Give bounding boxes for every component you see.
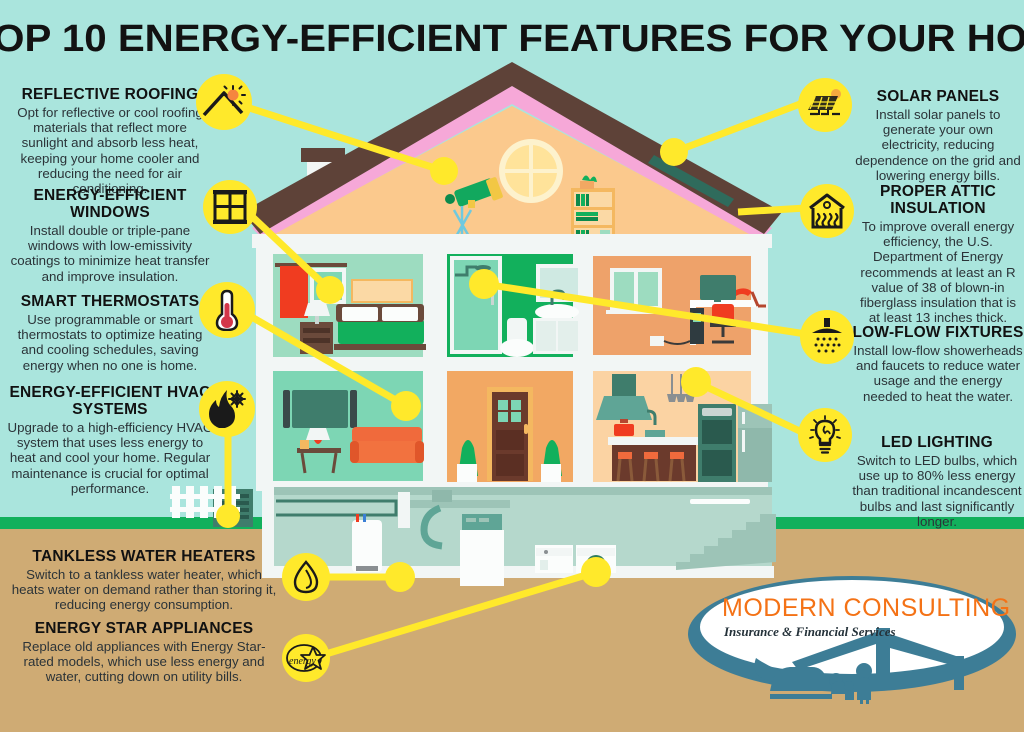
thermometer-icon[interactable]: [199, 282, 255, 338]
energy-star-icon[interactable]: energy: [282, 634, 330, 682]
table-lamp-shade: [306, 428, 330, 440]
round-window-mullion-h: [505, 169, 557, 173]
water-drop-icon[interactable]: [282, 553, 330, 601]
pipe-vertical: [398, 492, 410, 528]
plant-right-pot: [541, 464, 561, 482]
kitchen-sink: [645, 430, 665, 437]
stool-seat-3: [670, 452, 684, 459]
toilet-bowl: [500, 339, 534, 357]
pillow-right: [382, 307, 418, 321]
tv-speaker-left: [283, 390, 290, 428]
plant-left-pot: [457, 464, 477, 482]
attic-floor: [252, 234, 772, 248]
tv-screen: [292, 390, 348, 428]
office-chair-back: [712, 304, 734, 322]
bedroom-window-glass: [314, 272, 342, 300]
range-hood-top: [612, 374, 636, 396]
sofa-arm-left: [350, 441, 359, 463]
flame-snowflake-icon[interactable]: [199, 381, 255, 437]
range-hood: [596, 396, 652, 420]
logo-name-text: MODERN CONSULTING: [722, 594, 1011, 622]
showerhead: [475, 265, 491, 271]
furnace: [460, 530, 504, 586]
mug: [300, 440, 309, 449]
office-chair-seat: [710, 322, 736, 327]
washer-door: [586, 555, 606, 575]
solar-panel-icon[interactable]: [798, 78, 852, 132]
basement-left-wall: [262, 483, 274, 578]
basement-ceiling: [274, 487, 772, 495]
sink-basin: [535, 304, 579, 320]
logo-tagline-text: Insurance & Financial Services: [723, 624, 896, 639]
sofa-back: [352, 427, 422, 443]
bed-blanket: [338, 319, 424, 344]
water-heater: [352, 520, 382, 572]
wall-outlet: [650, 336, 664, 346]
basement-light: [690, 499, 750, 504]
bedroom-lamp-shade: [304, 303, 330, 316]
picket-fence: [170, 486, 240, 518]
mirror-glass: [540, 268, 578, 298]
infographic-canvas: TOP 10 ENERGY-EFFICIENT FEATURES FOR YOU…: [0, 0, 1024, 732]
monitor-stand: [714, 296, 721, 302]
door-handle: [524, 424, 528, 434]
pillow-left: [342, 307, 378, 321]
curtain: [280, 266, 308, 318]
shower-icon[interactable]: [800, 310, 854, 364]
stool-seat-1: [618, 452, 632, 459]
counter-top: [608, 437, 700, 445]
window-sill: [606, 310, 666, 314]
stool-seat-2: [644, 452, 658, 459]
window-icon[interactable]: [203, 180, 257, 234]
roof-sun-icon[interactable]: [196, 74, 252, 130]
svg-text:energy: energy: [289, 656, 316, 667]
tv-speaker-right: [350, 390, 357, 428]
shower-handle: [491, 293, 494, 305]
sofa-seat: [350, 441, 424, 463]
house-heat-icon[interactable]: [800, 184, 854, 238]
bed-base: [334, 344, 426, 350]
lightbulb-icon[interactable]: [798, 408, 852, 462]
company-logo[interactable]: MODERN CONSULTING Insurance & Financial …: [686, 572, 1018, 722]
wall-art: [352, 280, 412, 302]
sofa-arm-right: [415, 441, 424, 463]
cooking-pot: [614, 424, 634, 436]
duct-horizontal: [410, 500, 510, 508]
